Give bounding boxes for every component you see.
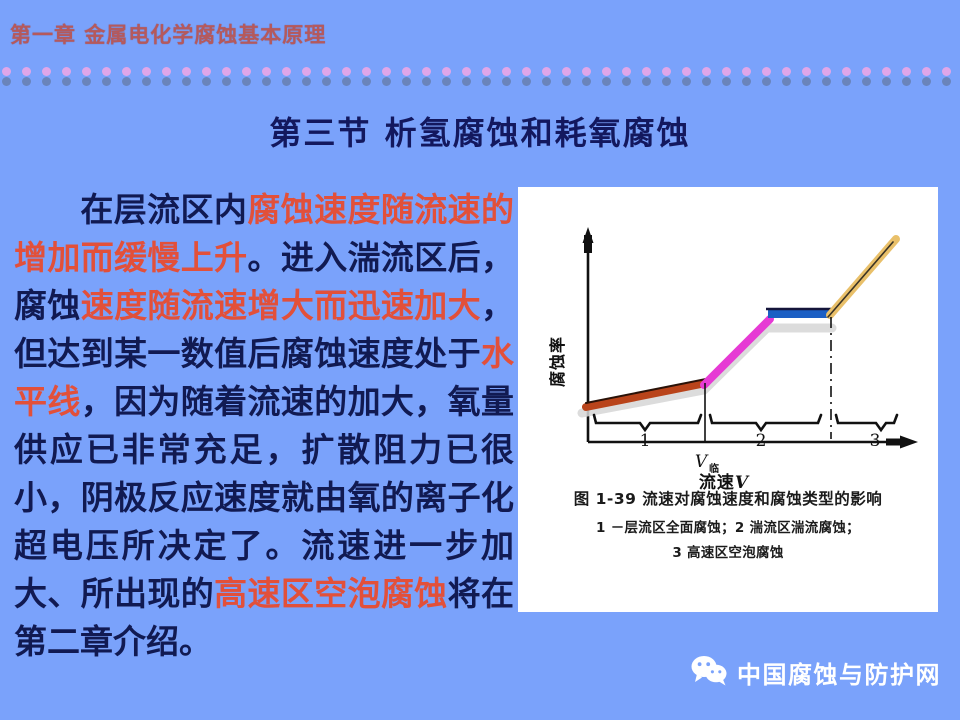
divider-dot-pink (642, 67, 651, 76)
divider-dot-pink (362, 67, 371, 76)
divider-dot-pink (882, 67, 891, 76)
divider-dot-gray (342, 77, 351, 86)
divider-dot-pink (462, 67, 471, 76)
divider-dot-pink (422, 67, 431, 76)
chapter-header: 第一章 金属电化学腐蚀基本原理 (10, 19, 326, 49)
divider-dot-gray (682, 77, 691, 86)
divider-dot-gray (622, 77, 631, 86)
divider-dot-gray (82, 77, 91, 86)
figure-caption: 图 1-39 流速对腐蚀速度和腐蚀类型的影响 1 －层流区全面腐蚀；2 湍流区湍… (518, 487, 938, 561)
divider-dot-pink (102, 67, 111, 76)
divider-dot-gray (522, 77, 531, 86)
figure-caption-main: 图 1-39 流速对腐蚀速度和腐蚀类型的影响 (518, 487, 938, 509)
divider-dot-pink (542, 67, 551, 76)
divider-dot-gray (842, 77, 851, 86)
v-critical-marker: V (695, 452, 709, 472)
region-brace-3 (836, 415, 897, 430)
y-axis-label: 腐蚀率 (548, 336, 567, 387)
divider-dot-gray (422, 77, 431, 86)
divider-dot-pink (762, 67, 771, 76)
decorative-dot-divider (0, 60, 960, 94)
divider-dot-gray (222, 77, 231, 86)
divider-dot-gray (182, 77, 191, 86)
divider-dot-pink (502, 67, 511, 76)
divider-dot-pink (162, 67, 171, 76)
divider-dot-gray (882, 77, 891, 86)
divider-dot-pink (822, 67, 831, 76)
divider-dot-pink (522, 67, 531, 76)
divider-dot-pink (682, 67, 691, 76)
divider-dot-gray (482, 77, 491, 86)
y-axis-arrow-stem (584, 235, 592, 253)
divider-dot-gray (702, 77, 711, 86)
body-text-highlight: 高速区空泡腐蚀 (214, 574, 448, 613)
divider-dot-pink (842, 67, 851, 76)
corrosion-rate-vs-flow-velocity-chart: 腐蚀率 (518, 187, 938, 492)
divider-dot-pink (122, 67, 131, 76)
divider-dot-gray (362, 77, 371, 86)
divider-dot-pink (922, 67, 931, 76)
wechat-icon (690, 654, 728, 690)
divider-dot-gray (302, 77, 311, 86)
curve-segment-cavitation-edge (828, 242, 893, 317)
divider-dot-gray (62, 77, 71, 86)
divider-dot-gray (462, 77, 471, 86)
divider-dot-gray (922, 77, 931, 86)
body-text-highlight: 速度随流速增大而迅速加大 (81, 286, 481, 325)
divider-dot-gray (562, 77, 571, 86)
divider-dot-gray (282, 77, 291, 86)
divider-dot-pink (42, 67, 51, 76)
divider-dot-pink (322, 67, 331, 76)
figure-panel: 腐蚀率 (518, 187, 938, 612)
divider-dot-pink (942, 67, 951, 76)
divider-dot-gray (242, 77, 251, 86)
divider-dot-pink (722, 67, 731, 76)
divider-dot-gray (402, 77, 411, 86)
divider-dot-pink (302, 67, 311, 76)
divider-dot-pink (182, 67, 191, 76)
divider-dot-pink (142, 67, 151, 76)
divider-dot-pink (342, 67, 351, 76)
region-label-1: 1 (640, 431, 651, 451)
divider-dot-pink (702, 67, 711, 76)
divider-dot-pink (742, 67, 751, 76)
divider-dot-pink (442, 67, 451, 76)
divider-dot-pink (582, 67, 591, 76)
body-text-run: 在层流区内 (80, 190, 247, 229)
slide-title: 第三节 析氢腐蚀和耗氧腐蚀 (0, 108, 960, 154)
divider-dot-gray (42, 77, 51, 86)
divider-dot-pink (62, 67, 71, 76)
divider-dot-pink (282, 67, 291, 76)
region-label-3: 3 (870, 431, 881, 451)
divider-dot-pink (562, 67, 571, 76)
divider-dot-gray (722, 77, 731, 86)
region-label-2: 2 (756, 431, 767, 451)
divider-dot-pink (382, 67, 391, 76)
divider-dot-pink (402, 67, 411, 76)
figure-caption-sub: 1 －层流区全面腐蚀；2 湍流区湍流腐蚀； (518, 516, 938, 536)
divider-dot-pink (862, 67, 871, 76)
divider-dot-gray (782, 77, 791, 86)
divider-dot-pink (902, 67, 911, 76)
divider-dot-pink (802, 67, 811, 76)
divider-dot-gray (22, 77, 31, 86)
figure-caption-sub2: 3 高速区空泡腐蚀 (518, 541, 938, 561)
divider-dot-gray (902, 77, 911, 86)
divider-dot-pink (222, 67, 231, 76)
divider-dot-gray (202, 77, 211, 86)
curve-segment-turbulent (704, 319, 770, 385)
dot-row-gray (0, 77, 960, 91)
divider-dot-pink (662, 67, 671, 76)
divider-dot-gray (142, 77, 151, 86)
divider-dot-pink (782, 67, 791, 76)
region-brace-1 (594, 415, 701, 430)
divider-dot-pink (242, 67, 251, 76)
body-paragraph: 在层流区内腐蚀速度随流速的增加而缓慢上升。进入湍流区后，腐蚀速度随流速增大而迅速… (14, 186, 514, 666)
watermark: 中国腐蚀与防护网 (690, 654, 941, 690)
x-axis-arrow-stem (886, 439, 904, 446)
region-brace-2 (710, 415, 821, 430)
divider-dot-gray (502, 77, 511, 86)
divider-dot-pink (2, 67, 11, 76)
divider-dot-gray (582, 77, 591, 86)
divider-dot-gray (542, 77, 551, 86)
divider-dot-gray (122, 77, 131, 86)
chart-plot-area: 腐蚀率 (518, 187, 938, 492)
divider-dot-gray (442, 77, 451, 86)
divider-dot-gray (382, 77, 391, 86)
divider-dot-pink (622, 67, 631, 76)
divider-dot-gray (642, 77, 651, 86)
divider-dot-gray (742, 77, 751, 86)
divider-dot-gray (762, 77, 771, 86)
divider-dot-gray (322, 77, 331, 86)
divider-dot-gray (822, 77, 831, 86)
divider-dot-gray (802, 77, 811, 86)
divider-dot-pink (202, 67, 211, 76)
divider-dot-gray (942, 77, 951, 86)
divider-dot-gray (662, 77, 671, 86)
divider-dot-gray (602, 77, 611, 86)
watermark-label: 中国腐蚀与防护网 (737, 655, 941, 690)
divider-dot-pink (262, 67, 271, 76)
divider-dot-pink (602, 67, 611, 76)
divider-dot-pink (22, 67, 31, 76)
divider-dot-gray (102, 77, 111, 86)
divider-dot-pink (82, 67, 91, 76)
divider-dot-gray (2, 77, 11, 86)
divider-dot-gray (162, 77, 171, 86)
divider-dot-gray (262, 77, 271, 86)
region-brace-group (594, 415, 897, 430)
divider-dot-pink (482, 67, 491, 76)
divider-dot-gray (862, 77, 871, 86)
